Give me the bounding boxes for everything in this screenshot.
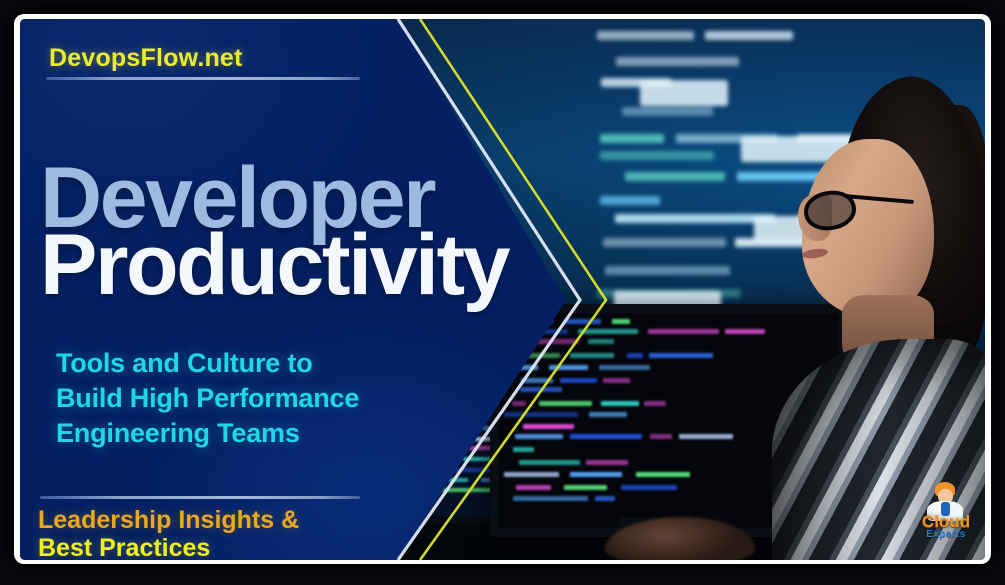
subtitle: Tools and Culture to Build High Performa… <box>56 346 359 451</box>
cloud-experts-badge[interactable]: Cloud Experts <box>913 481 979 543</box>
page-title: Developer Productivity <box>40 160 508 305</box>
footer-line-1: Leadership Insights & <box>38 506 299 534</box>
banner-stage: DevopsFlow.net Developer Productivity To… <box>20 19 985 560</box>
footer-tagline: Leadership Insights & Best Practices <box>38 506 299 560</box>
title-line-2: Productivity <box>40 227 508 304</box>
subtitle-line-1: Tools and Culture to <box>56 346 359 381</box>
subtitle-line-3: Engineering Teams <box>56 416 359 451</box>
subtitle-line-2: Build High Performance <box>56 381 359 416</box>
site-logo[interactable]: DevopsFlow.net <box>49 44 243 73</box>
footer-line-2: Best Practices <box>38 534 299 560</box>
badge-subtitle: Experts <box>913 528 979 542</box>
promo-banner: DevopsFlow.net Developer Productivity To… <box>0 0 1005 585</box>
footer-divider <box>40 496 360 499</box>
logo-divider <box>46 77 360 80</box>
